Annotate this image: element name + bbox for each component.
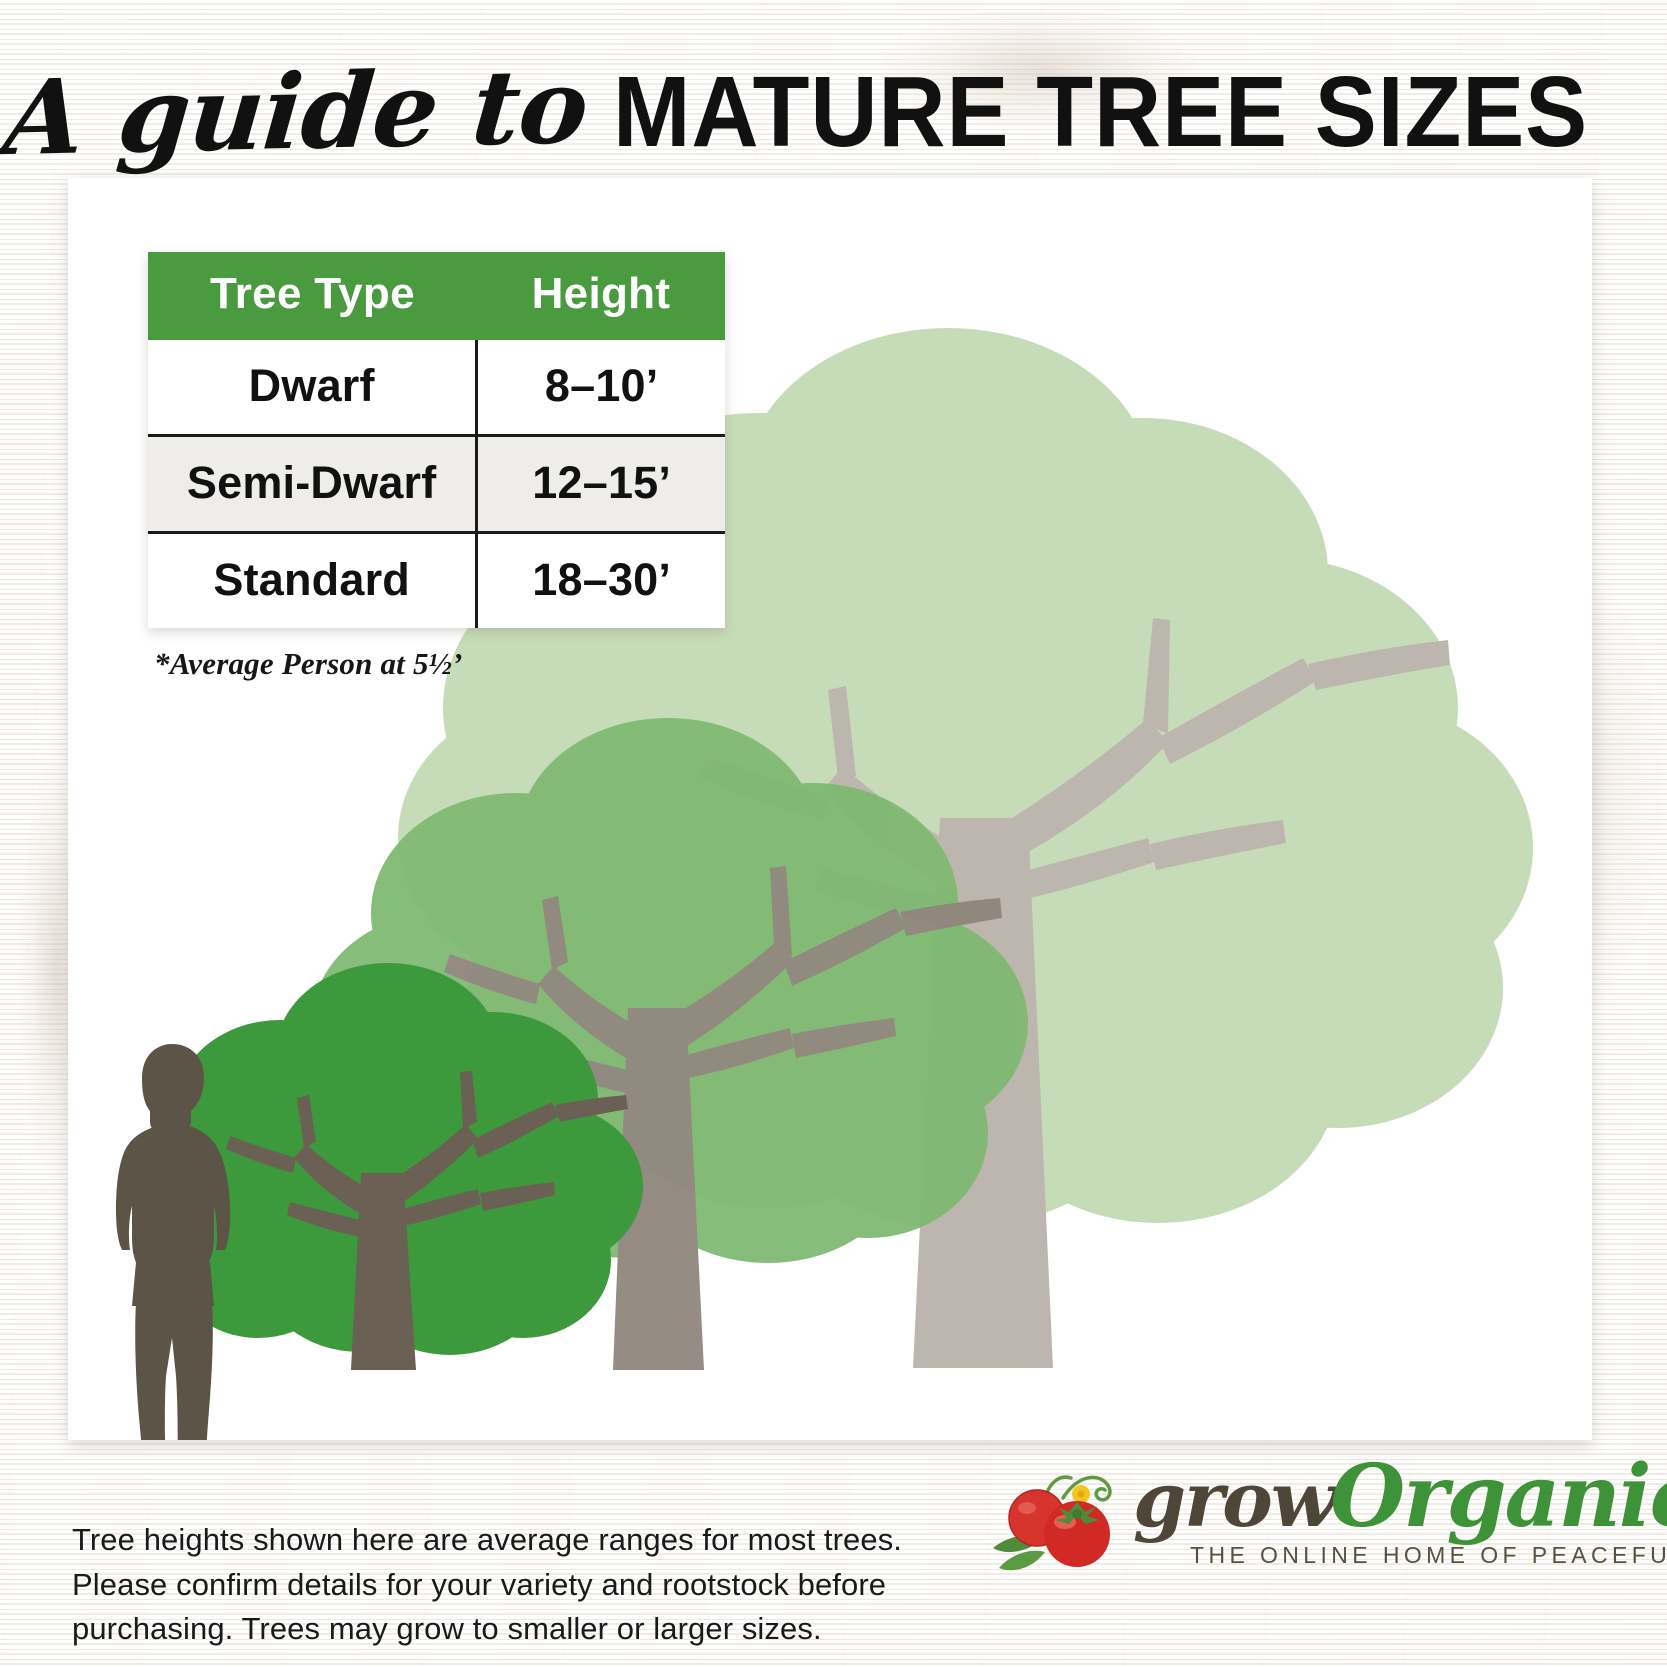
content-card: Tree Type Height Dwarf 8–10’ Semi-Dwarf …: [68, 178, 1592, 1440]
infographic-page: A guide to MATURE TREE SIZES: [0, 0, 1667, 1667]
cell-height: 18–30’: [477, 533, 725, 629]
table-row: Semi-Dwarf 12–15’: [148, 436, 725, 533]
table-footnote: *Average Person at 5½’: [154, 646, 463, 682]
page-title-block: MATURE TREE SIZES: [613, 62, 1588, 162]
tree-size-table: Tree Type Height Dwarf 8–10’ Semi-Dwarf …: [148, 252, 725, 628]
table-header-row: Tree Type Height: [148, 252, 725, 340]
table-header-tree-type: Tree Type: [148, 252, 477, 340]
logo-word-organic: Organic: [1330, 1446, 1667, 1547]
table-row: Dwarf 8–10’: [148, 340, 725, 436]
logo-wordmark: growOrganic.com: [1133, 1454, 1667, 1540]
cell-tree-type: Semi-Dwarf: [148, 436, 477, 533]
logo-word-grow: grow: [1133, 1455, 1334, 1544]
table-row: Standard 18–30’: [148, 533, 725, 629]
cell-tree-type: Dwarf: [148, 340, 477, 436]
page-title-script: A guide to: [1, 54, 592, 169]
table-header-height: Height: [477, 252, 725, 340]
tomatoes-icon: [985, 1456, 1155, 1576]
footer-disclaimer: Tree heights shown here are average rang…: [72, 1518, 972, 1652]
page-title: A guide to MATURE TREE SIZES: [0, 52, 1667, 172]
cell-tree-type: Standard: [148, 533, 477, 629]
logo-tagline: THE ONLINE HOME OF PEACEFUL VALLEY: [1190, 1542, 1667, 1569]
grow-organic-logo[interactable]: growOrganic.com THE ONLINE HOME OF PEACE…: [985, 1438, 1605, 1588]
cell-height: 12–15’: [477, 436, 725, 533]
cell-height: 8–10’: [477, 340, 725, 436]
